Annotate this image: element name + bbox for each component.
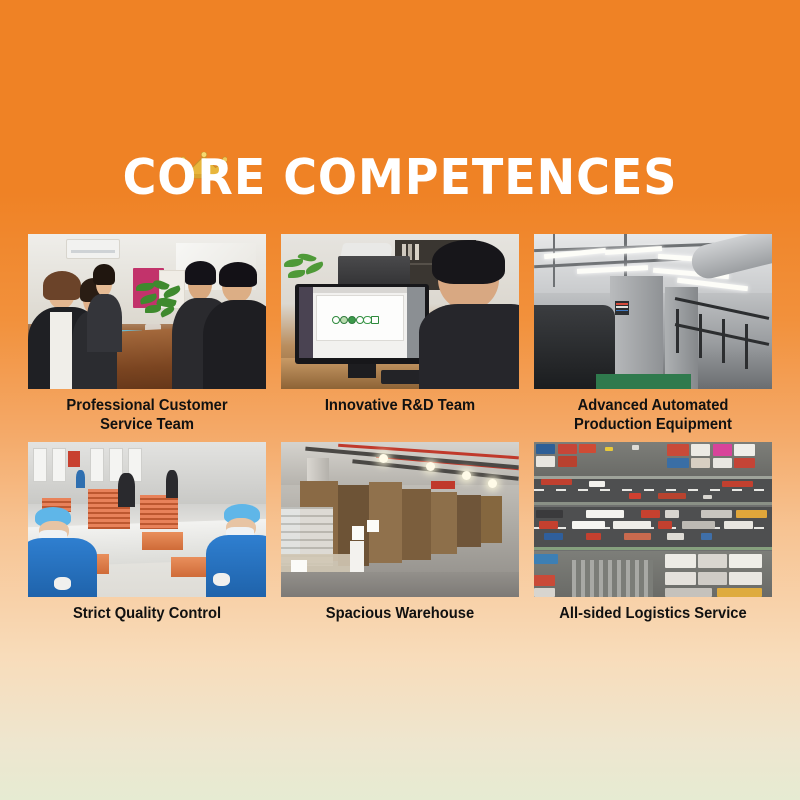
competence-caption: Professional Customer Service Team — [34, 396, 260, 434]
competence-card-logistics-service: All-sided Logistics Service — [534, 442, 772, 623]
competence-card-quality-control: Strict Quality Control — [28, 442, 266, 623]
competence-caption: All-sided Logistics Service — [540, 604, 766, 623]
photo-customer-service-team — [28, 234, 266, 389]
page-title: CORE COMPETENCES — [24, 148, 776, 208]
competence-caption: Innovative R&D Team — [287, 396, 513, 415]
competence-caption: Strict Quality Control — [34, 604, 260, 623]
photo-logistics-service — [534, 442, 772, 597]
competence-caption: Spacious Warehouse — [287, 604, 513, 623]
photo-warehouse — [281, 442, 519, 597]
competence-card-production-equipment: Advanced Automated Production Equipment — [534, 234, 772, 434]
competence-card-warehouse: Spacious Warehouse — [281, 442, 519, 623]
competences-grid: Professional Customer Service Team — [28, 234, 772, 623]
competence-card-rd-team: Innovative R&D Team — [281, 234, 519, 434]
core-competences-poster: CORE COMPETENCES — [0, 0, 800, 800]
competence-caption: Advanced Automated Production Equipment — [540, 396, 766, 434]
photo-rd-team — [281, 234, 519, 389]
title-block: CORE COMPETENCES — [0, 148, 800, 208]
photo-production-equipment — [534, 234, 772, 389]
competence-card-customer-service: Professional Customer Service Team — [28, 234, 266, 434]
photo-quality-control — [28, 442, 266, 597]
